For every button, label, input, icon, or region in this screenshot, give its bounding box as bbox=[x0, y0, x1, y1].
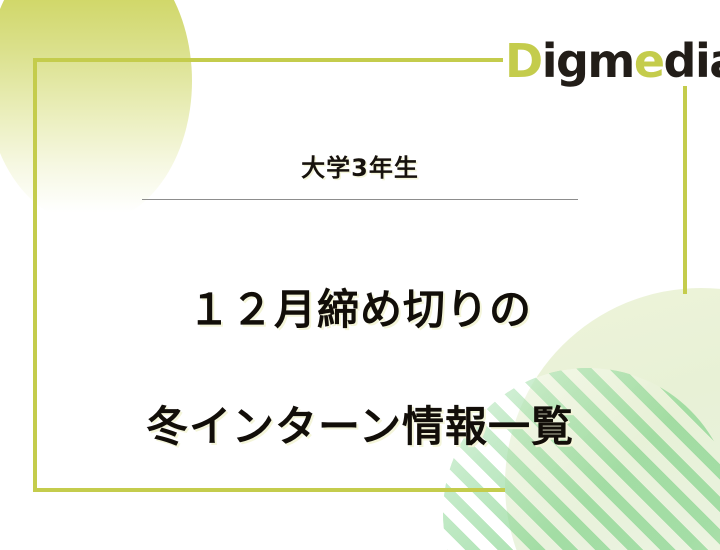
slide-title-line-2: 冬インターン情報一覧 bbox=[146, 398, 574, 457]
slide-content: 大学3年生 １２月締め切りの 冬インターン情報一覧 bbox=[0, 0, 720, 550]
slide-title-line-1: １２月締め切りの bbox=[146, 281, 574, 340]
slide-title: １２月締め切りの 冬インターン情報一覧 bbox=[146, 222, 574, 516]
slide-subtitle: 大学3年生 bbox=[301, 148, 419, 183]
subtitle-divider bbox=[142, 199, 578, 200]
slide-canvas: Digmedia 大学3年生 １２月締め切りの 冬インターン情報一覧 bbox=[0, 0, 720, 550]
